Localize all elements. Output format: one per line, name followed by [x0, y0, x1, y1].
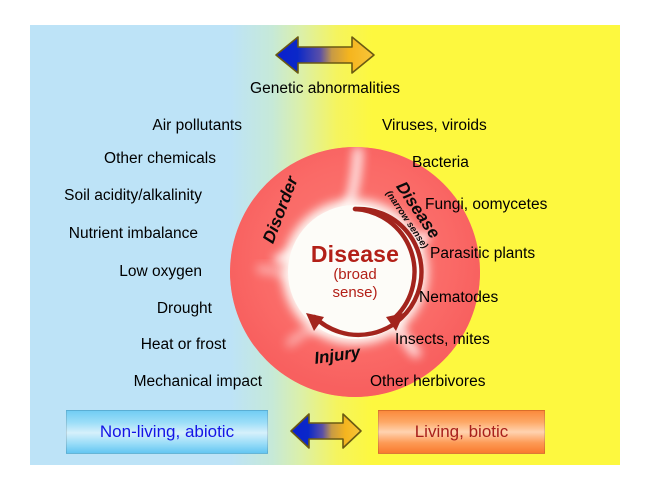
- diagram-panel: Genetic abnormalities: [30, 25, 620, 465]
- right-item-bacteria: Bacteria: [412, 155, 469, 171]
- legend-box-biotic-label: Living, biotic: [415, 422, 509, 442]
- diagram-canvas: Genetic abnormalities: [0, 0, 650, 477]
- legend-box-biotic: Living, biotic: [378, 410, 545, 454]
- abiotic-biotic-spectrum-arrow-bottom: [288, 409, 364, 453]
- legend-box-abiotic: Non-living, abiotic: [66, 410, 268, 454]
- left-item-drought: Drought: [30, 301, 212, 317]
- left-item-nutrient-imbalance: Nutrient imbalance: [30, 226, 198, 242]
- label-genetic-abnormalities: Genetic abnormalities: [30, 81, 620, 97]
- left-item-soil-acidity: Soil acidity/alkalinity: [30, 188, 202, 204]
- right-item-nematodes: Nematodes: [419, 290, 498, 306]
- right-item-other-herbivores: Other herbivores: [370, 374, 485, 390]
- left-item-mechanical-impact: Mechanical impact: [30, 374, 262, 390]
- left-item-low-oxygen: Low oxygen: [30, 264, 202, 280]
- left-item-other-chemicals: Other chemicals: [30, 151, 216, 167]
- abiotic-biotic-spectrum-arrow-top: [273, 33, 377, 77]
- left-item-heat-or-frost: Heat or frost: [30, 337, 226, 353]
- right-item-viruses-viroids: Viruses, viroids: [382, 118, 487, 134]
- left-item-air-pollutants: Air pollutants: [30, 118, 242, 134]
- right-item-fungi-oomycetes: Fungi, oomycetes: [425, 197, 547, 213]
- legend-box-abiotic-label: Non-living, abiotic: [100, 422, 234, 442]
- disease-disc: Disorder Disease (narrow sense) Injury: [230, 147, 480, 397]
- right-item-insects-mites: Insects, mites: [395, 332, 490, 348]
- right-item-parasitic-plants: Parasitic plants: [430, 246, 535, 262]
